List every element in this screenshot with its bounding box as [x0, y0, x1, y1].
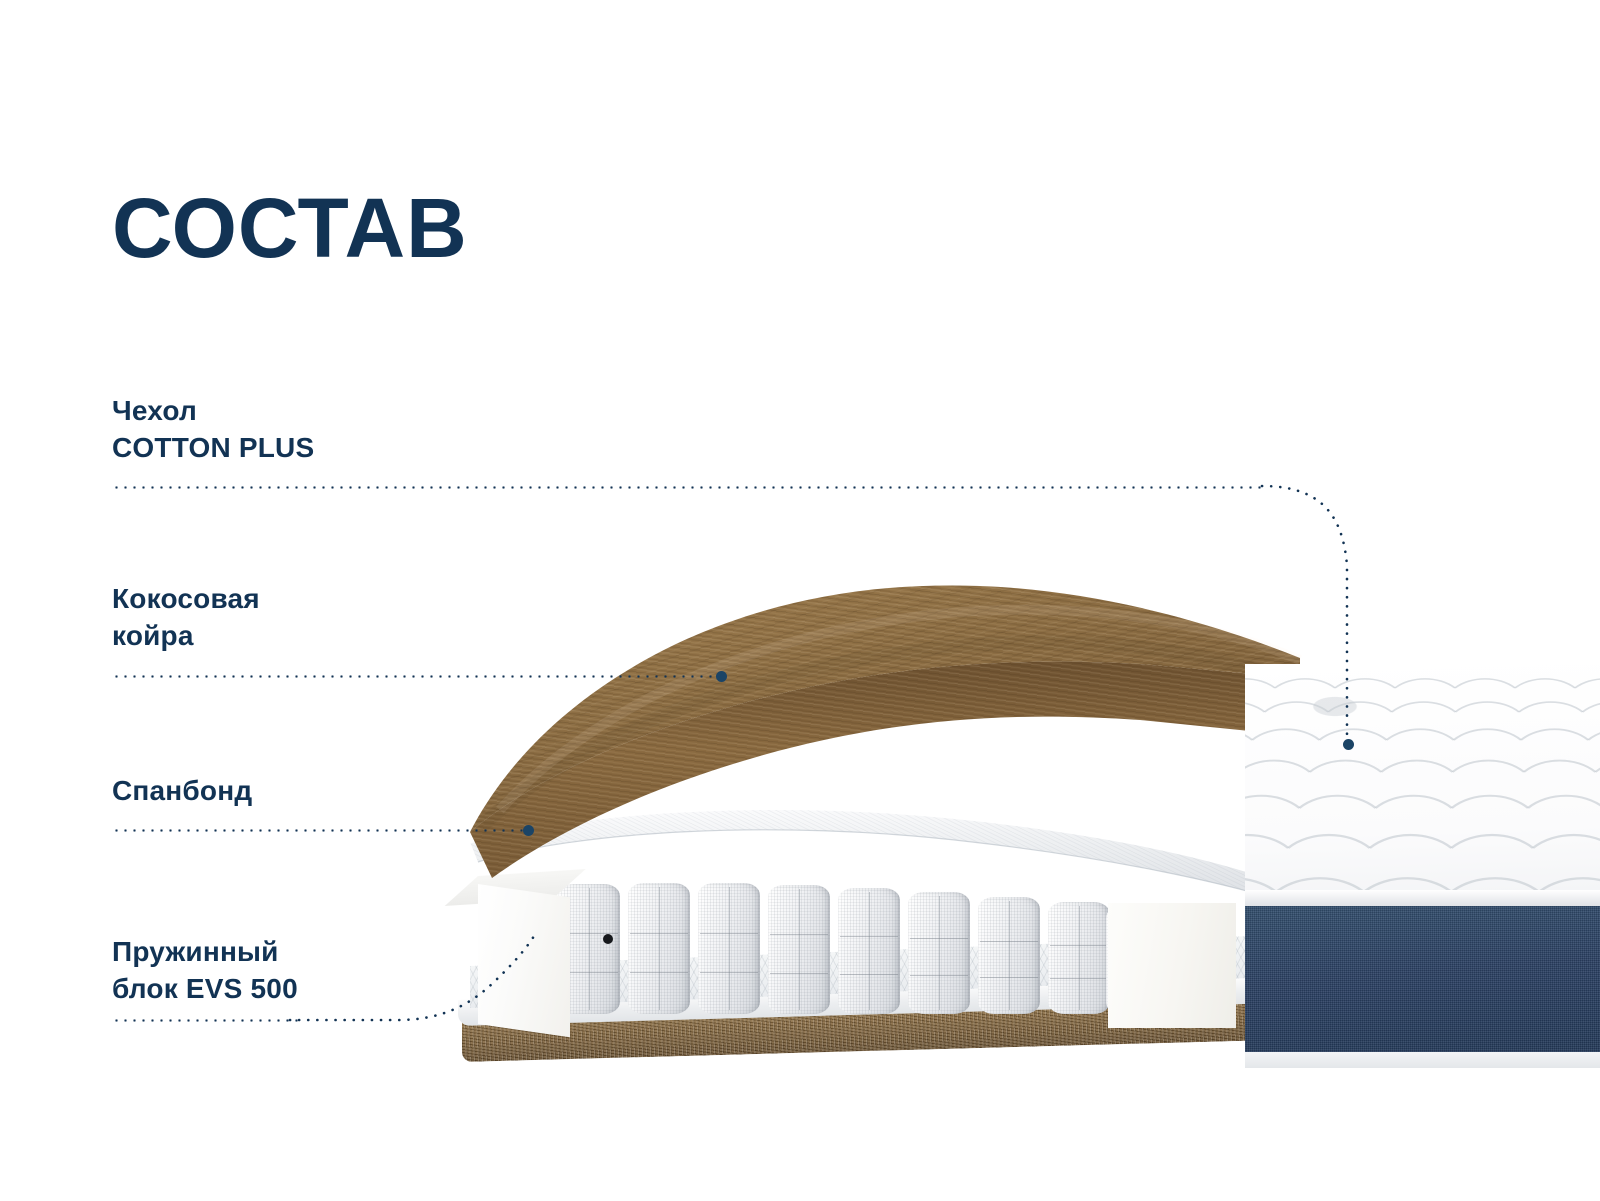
- callout-dot-coir: [716, 671, 727, 682]
- cover-side-piping-bottom: [1245, 1052, 1600, 1068]
- foam-edge-block-right: [1108, 903, 1236, 1028]
- layer-label-coir: Кокосовая койра: [112, 580, 260, 654]
- leader-line-coir: [112, 675, 722, 678]
- page-title: СОСТАВ: [112, 186, 468, 270]
- pocket-spring: [628, 883, 690, 1014]
- pocket-spring: [698, 883, 760, 1014]
- layer-label-cover: Чехол COTTON PLUS: [112, 392, 314, 466]
- pocket-spring: [838, 888, 900, 1014]
- leader-line-spring-diagonal: [290, 920, 620, 1030]
- callout-dot-spring: [603, 934, 613, 944]
- coir-layer-main: [440, 560, 1300, 920]
- leader-line-cover-curve: [1180, 470, 1380, 760]
- composition-infographic: СОСТАВ: [0, 0, 1600, 1201]
- pocket-spring: [1048, 902, 1110, 1014]
- foam-edge-block-top: [445, 869, 586, 906]
- layer-label-spanbond: Спанбонд: [112, 772, 252, 809]
- leader-line-cover: [112, 486, 1262, 489]
- leader-line-spring: [112, 1019, 302, 1022]
- leader-line-spanbond: [112, 829, 530, 832]
- cover-side-panel-navy: DIMAX СОЮЗ ЦЕНЫ И КАЧЕСТВА: [1245, 906, 1600, 1054]
- cover-side-piping-top: [1245, 890, 1600, 908]
- callout-dot-spanbond: [523, 825, 534, 836]
- pocket-spring: [768, 885, 830, 1014]
- pocket-spring: [908, 892, 970, 1014]
- callout-dot-cover: [1343, 739, 1354, 750]
- spanbond-layer-middle: [452, 800, 1292, 920]
- layer-label-spring-block: Пружинный блок EVS 500: [112, 933, 298, 1007]
- pocket-spring: [978, 897, 1040, 1014]
- coir-layer-lower-extent: [440, 560, 1300, 920]
- pocket-spring: [1106, 906, 1146, 1014]
